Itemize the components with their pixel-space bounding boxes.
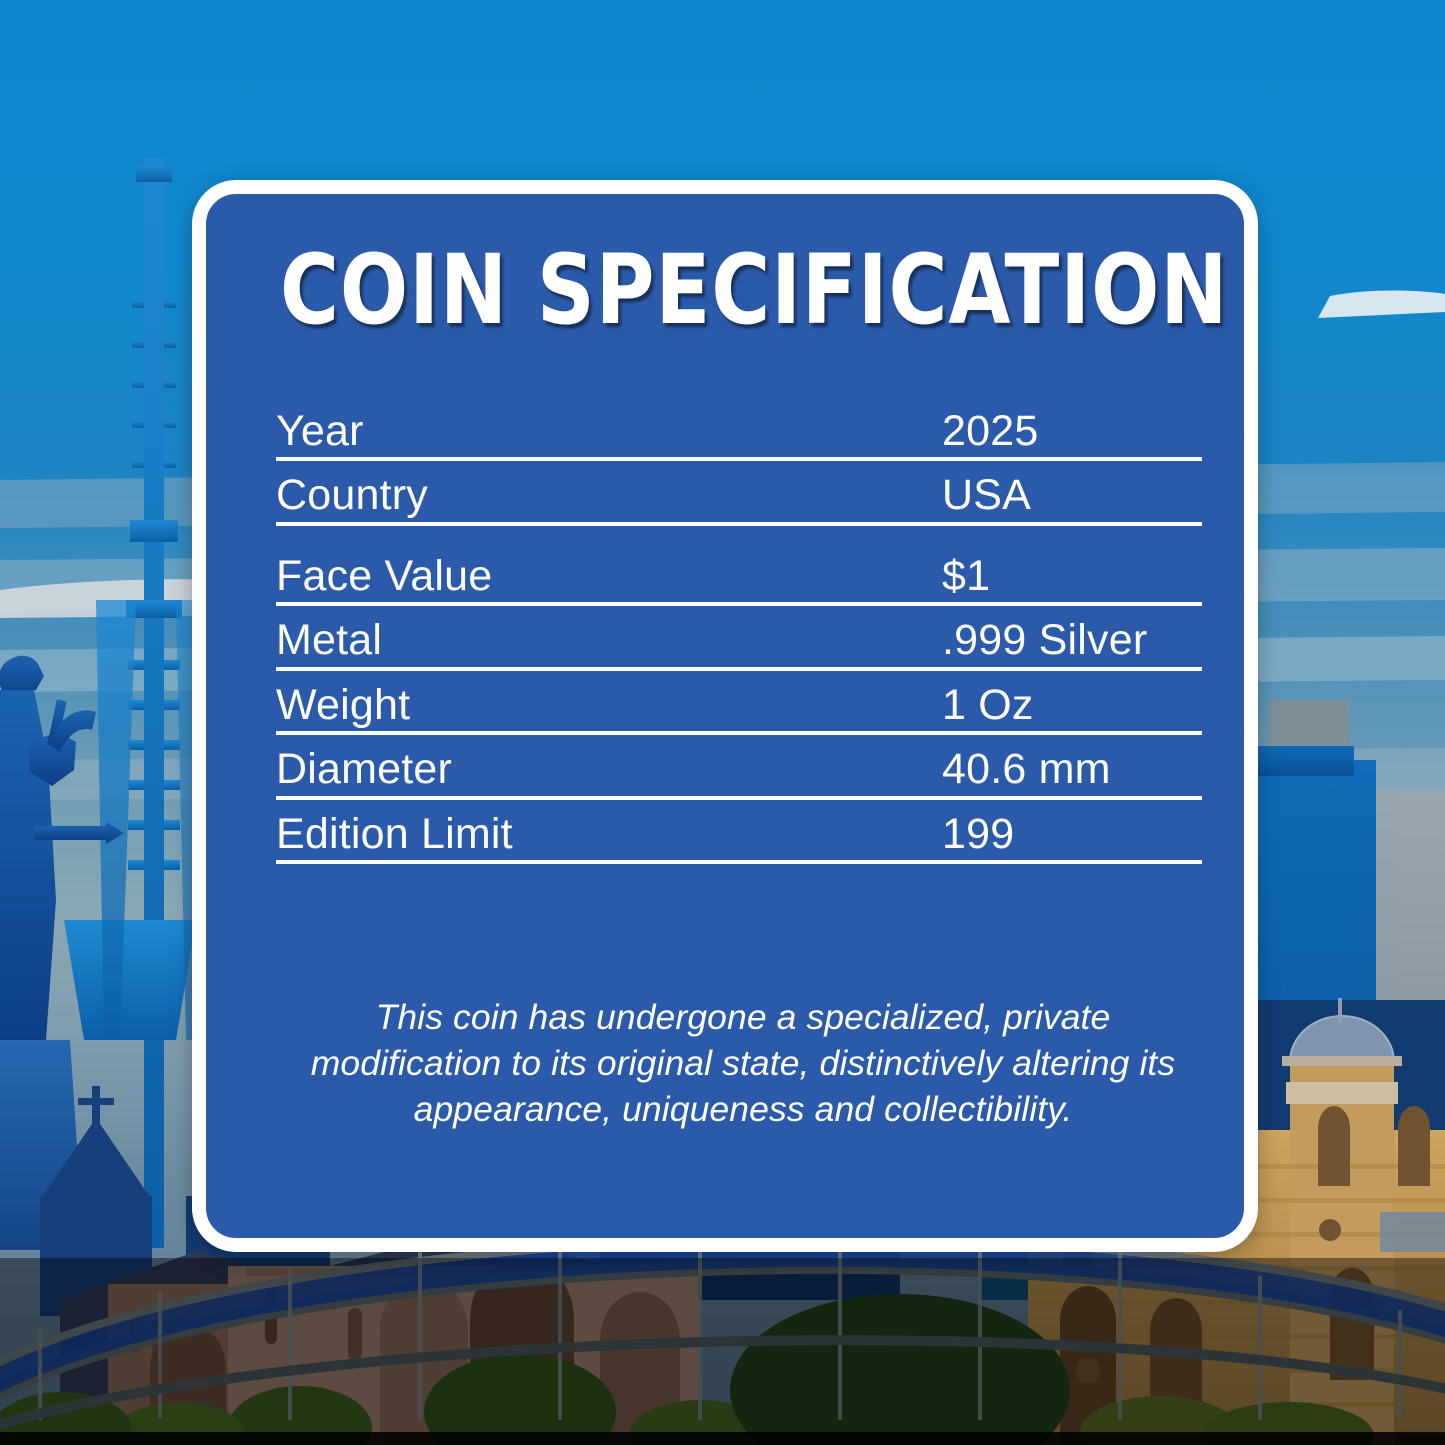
table-row: Country USA — [276, 469, 1202, 525]
spec-value-country: USA — [942, 469, 1202, 521]
row-gap — [276, 671, 1202, 679]
spec-value-face-value: $1 — [942, 550, 1202, 602]
spec-label-year: Year — [276, 405, 942, 457]
spec-label-diameter: Diameter — [276, 743, 942, 795]
row-gap — [276, 735, 1202, 743]
spec-label-edition-limit: Edition Limit — [276, 808, 942, 860]
spec-label-face-value: Face Value — [276, 550, 942, 602]
spec-value-year: 2025 — [942, 405, 1202, 457]
table-row: Face Value $1 — [276, 550, 1202, 606]
spec-value-weight: 1 Oz — [942, 679, 1202, 731]
row-gap — [276, 800, 1202, 808]
table-row: Year 2025 — [276, 405, 1202, 461]
spec-label-weight: Weight — [276, 679, 942, 731]
row-gap — [276, 526, 1202, 550]
spec-value-diameter: 40.6 mm — [942, 743, 1202, 795]
table-row: Edition Limit 199 — [276, 808, 1202, 864]
table-row: Weight 1 Oz — [276, 679, 1202, 735]
row-gap — [276, 461, 1202, 469]
page-title: COIN SPECIFICATION — [280, 242, 1228, 338]
spec-value-metal: .999 Silver — [942, 614, 1202, 666]
spec-label-country: Country — [276, 469, 942, 521]
spec-value-edition-limit: 199 — [942, 808, 1202, 860]
row-gap — [276, 606, 1202, 614]
spec-table: Year 2025 Country USA Face Value $1 Meta… — [276, 405, 1202, 864]
disclaimer-note: This coin has undergone a specialized, p… — [284, 994, 1202, 1132]
table-row: Diameter 40.6 mm — [276, 743, 1202, 799]
poster-canvas: COIN SPECIFICATION Year 2025 Country USA… — [0, 0, 1445, 1445]
tv-tower — [64, 158, 206, 1248]
table-row: Metal .999 Silver — [276, 614, 1202, 670]
spec-label-metal: Metal — [276, 614, 942, 666]
coin-specification-card: COIN SPECIFICATION Year 2025 Country USA… — [192, 180, 1258, 1252]
